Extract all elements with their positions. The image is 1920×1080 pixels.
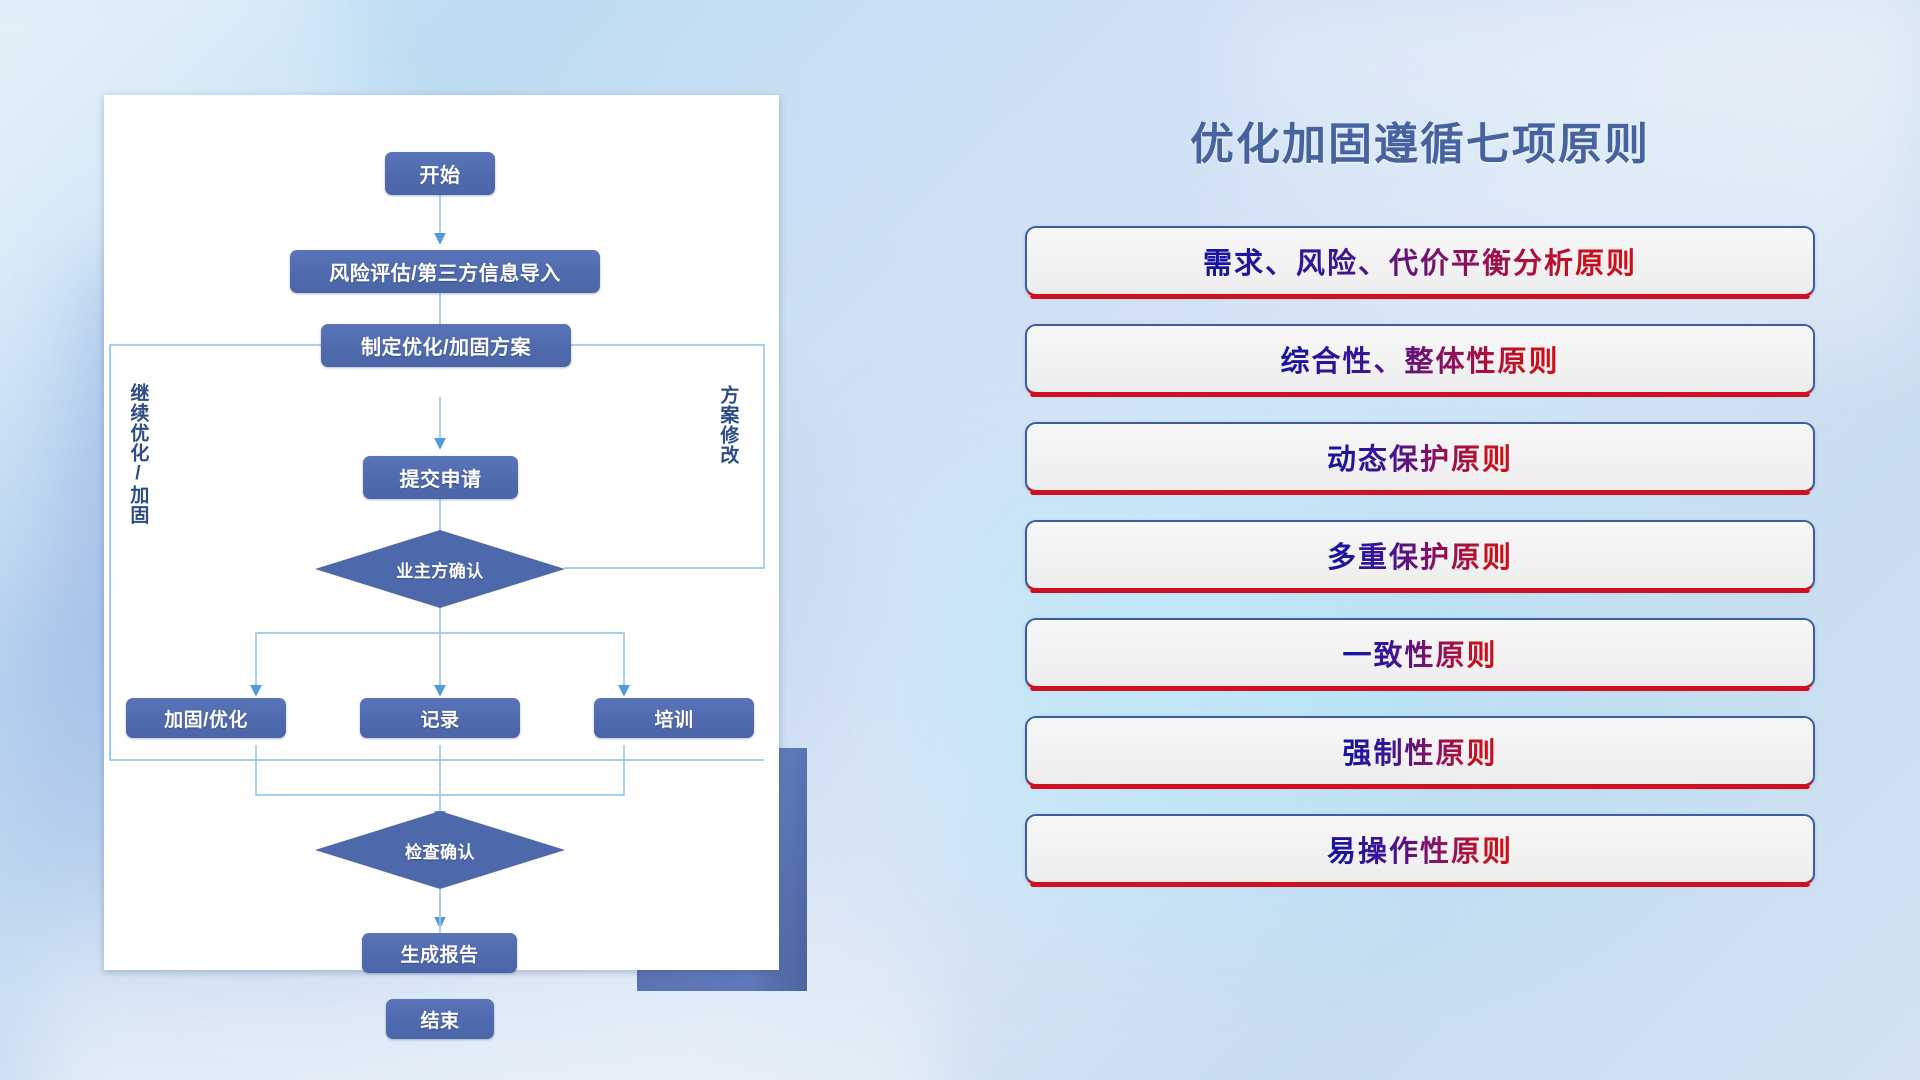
flow-node-label: 业主方确认 — [396, 557, 484, 582]
flow-node-label: 开始 — [420, 159, 461, 188]
flow-node-plan[interactable]: 制定优化/加固方案 — [321, 324, 571, 367]
principle-card[interactable]: 一致性原则 — [1025, 618, 1815, 689]
principle-card[interactable]: 易操作性原则 — [1025, 814, 1815, 885]
flow-node-label: 结束 — [420, 1006, 459, 1033]
flow-node-record[interactable]: 记录 — [360, 698, 520, 738]
flow-node-label: 风险评估/第三方信息导入 — [329, 257, 561, 286]
principle-card[interactable]: 需求、风险、代价平衡分析原则 — [1025, 226, 1815, 297]
flow-node-owner-confirm[interactable]: 业主方确认 — [315, 530, 565, 608]
flow-node-risk-assessment[interactable]: 风险评估/第三方信息导入 — [290, 250, 600, 293]
flow-node-label: 生成报告 — [400, 940, 478, 967]
principles-section: 优化加固遵循七项原则 需求、风险、代价平衡分析原则 综合性、整体性原则 动态保护… — [1020, 96, 1820, 996]
flow-node-label: 检查确认 — [405, 838, 475, 863]
flowchart-panel: 开始 风险评估/第三方信息导入 制定优化/加固方案 提交申请 业主方确认 加固/… — [104, 95, 779, 970]
flow-node-submit-application[interactable]: 提交申请 — [363, 456, 518, 499]
principle-label: 一致性原则 — [1342, 632, 1497, 674]
principles-title: 优化加固遵循七项原则 — [1020, 108, 1820, 172]
principle-label: 强制性原则 — [1342, 730, 1497, 772]
principle-label: 动态保护原则 — [1327, 436, 1513, 478]
flow-node-label: 记录 — [420, 705, 459, 732]
flow-node-label: 提交申请 — [400, 463, 482, 492]
flow-node-label: 制定优化/加固方案 — [361, 331, 531, 360]
principle-label: 需求、风险、代价平衡分析原则 — [1203, 240, 1637, 282]
flow-node-generate-report[interactable]: 生成报告 — [362, 933, 517, 973]
principle-card[interactable]: 动态保护原则 — [1025, 422, 1815, 493]
principle-label: 综合性、整体性原则 — [1280, 338, 1559, 380]
flow-node-end[interactable]: 结束 — [386, 999, 494, 1039]
slide-canvas: 开始 风险评估/第三方信息导入 制定优化/加固方案 提交申请 业主方确认 加固/… — [0, 0, 1920, 1080]
principle-label: 易操作性原则 — [1327, 828, 1513, 870]
flow-node-start[interactable]: 开始 — [385, 152, 495, 195]
flow-node-training[interactable]: 培训 — [594, 698, 754, 738]
flow-node-label: 加固/优化 — [164, 705, 248, 732]
flow-node-check-confirm[interactable]: 检查确认 — [315, 811, 565, 889]
principles-card-list: 需求、风险、代价平衡分析原则 综合性、整体性原则 动态保护原则 多重保护原则 一… — [1025, 226, 1815, 912]
flow-node-label: 培训 — [654, 705, 693, 732]
flow-edge-label-continue-optimize: 继续优化/加固 — [128, 383, 147, 525]
flow-node-reinforce[interactable]: 加固/优化 — [126, 698, 286, 738]
principle-label: 多重保护原则 — [1327, 534, 1513, 576]
principle-card[interactable]: 多重保护原则 — [1025, 520, 1815, 591]
flow-edge-label-plan-revision: 方案修改 — [718, 385, 737, 465]
principle-card[interactable]: 综合性、整体性原则 — [1025, 324, 1815, 395]
principle-card[interactable]: 强制性原则 — [1025, 716, 1815, 787]
